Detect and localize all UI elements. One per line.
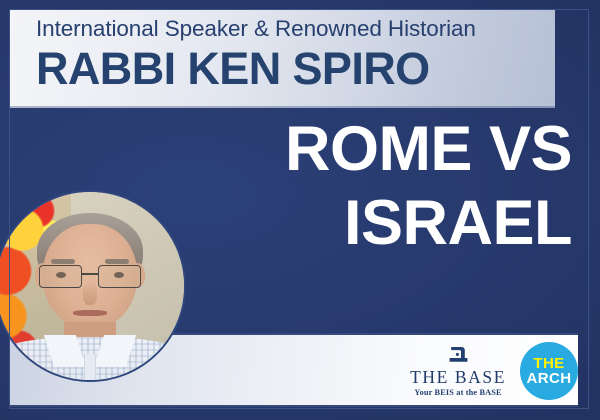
the-base-wordmark: THE BASE <box>410 369 506 387</box>
hebrew-letter-bet-icon <box>447 345 469 366</box>
portrait-nose <box>83 282 96 305</box>
logo-group: THE BASE Your BEIS at the BASE THE ARCH <box>410 336 578 406</box>
promo-poster: International Speaker & Renowned Histori… <box>0 0 600 420</box>
portrait-shirt-placket <box>84 354 95 382</box>
header-text-group: International Speaker & Renowned Histori… <box>36 14 543 96</box>
portrait-lens-right <box>98 265 141 288</box>
the-base-logo: THE BASE Your BEIS at the BASE <box>410 345 506 398</box>
portrait-mouth <box>73 310 107 316</box>
speaker-name: RABBI KEN SPIRO <box>36 42 430 96</box>
the-arch-logo: THE ARCH <box>520 342 578 400</box>
portrait-lens-left <box>39 265 82 288</box>
portrait-glasses-bridge <box>82 273 98 275</box>
speaker-kicker: International Speaker & Renowned Histori… <box>36 14 476 44</box>
the-base-tagline: Your BEIS at the BASE <box>414 389 501 397</box>
header-band: International Speaker & Renowned Histori… <box>10 10 555 108</box>
portrait-brow-right <box>105 259 129 264</box>
title-line-1: ROME VS <box>0 112 572 186</box>
portrait-brow-left <box>51 259 75 264</box>
the-arch-line-2: ARCH <box>527 371 572 386</box>
the-arch-line-1: THE <box>533 356 564 371</box>
speaker-portrait <box>0 190 186 382</box>
